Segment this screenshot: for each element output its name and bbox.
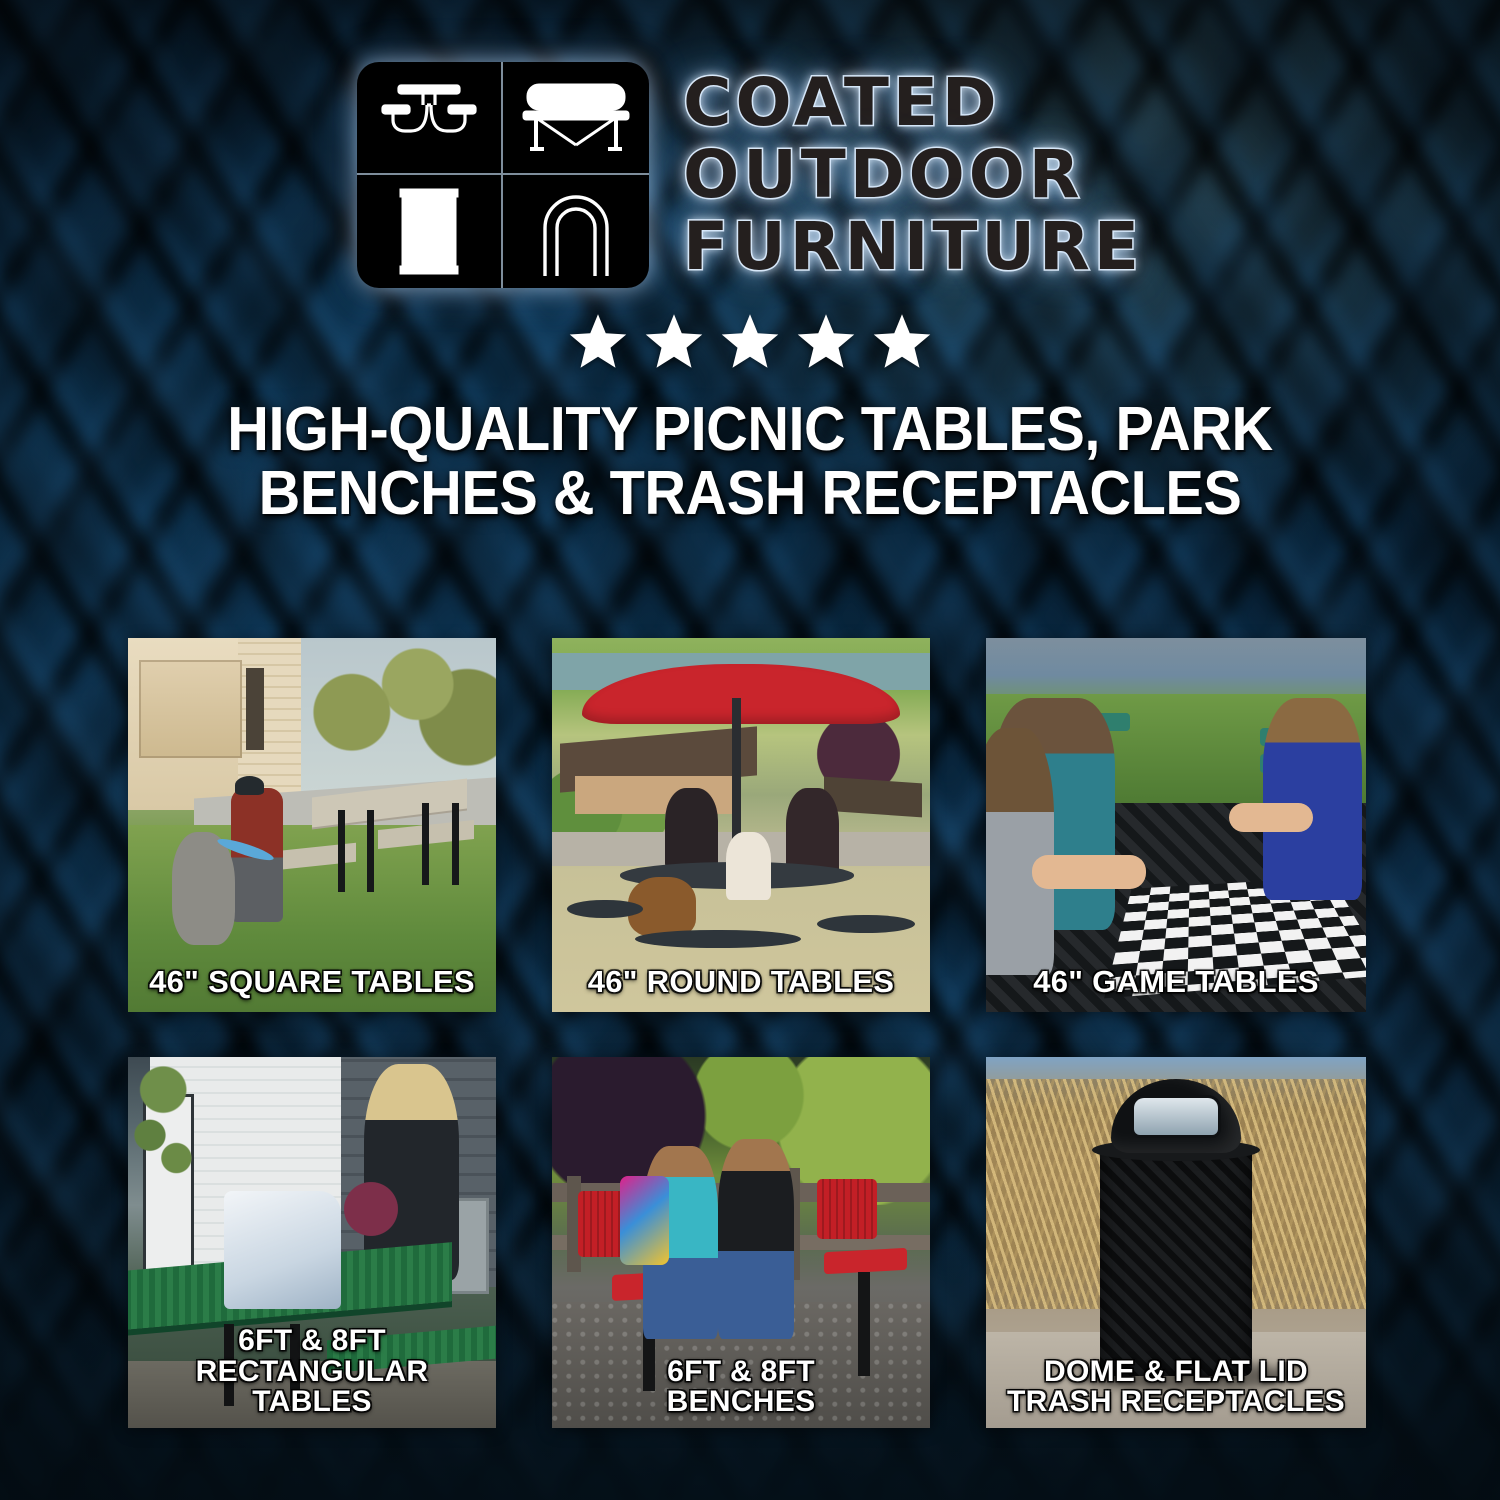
star-icon — [643, 312, 705, 372]
wordmark-line-3: FURNITURE — [683, 212, 1143, 282]
caption-line-1: 46" GAME TABLES — [994, 966, 1358, 998]
product-tile-benches[interactable]: 6FT & 8FT BENCHES — [552, 1057, 930, 1428]
bike-rack-arch-icon — [503, 175, 649, 288]
caption-line-2: RECTANGULAR TABLES — [136, 1357, 488, 1418]
product-caption: DOME & FLAT LID TRASH RECEPTACLES — [986, 1357, 1366, 1418]
product-caption: 46" SQUARE TABLES — [128, 966, 496, 998]
caption-line-1: 6FT & 8FT — [560, 1357, 922, 1388]
caption-line-1: 6FT & 8FT — [136, 1326, 488, 1357]
star-icon — [567, 312, 629, 372]
star-icon — [871, 312, 933, 372]
star-icon — [795, 312, 857, 372]
product-tile-round-tables[interactable]: 46" ROUND TABLES — [552, 638, 930, 1012]
product-tile-trash-receptacles[interactable]: DOME & FLAT LID TRASH RECEPTACLES — [986, 1057, 1366, 1428]
product-caption: 46" ROUND TABLES — [552, 966, 930, 998]
headline-line-1: HIGH-QUALITY PICNIC TABLES, PARK — [118, 398, 1383, 462]
park-bench-icon — [503, 62, 649, 175]
wordmark-line-2: OUTDOOR — [683, 140, 1143, 210]
wordmark-line-1: COATED — [683, 68, 1143, 138]
logo-mark — [357, 62, 649, 288]
product-caption: 6FT & 8FT RECTANGULAR TABLES — [128, 1326, 496, 1418]
picnic-table-icon — [357, 62, 503, 175]
brand-wordmark: COATED OUTDOOR FURNITURE — [683, 68, 1143, 282]
brand-logo: COATED OUTDOOR FURNITURE — [0, 0, 1500, 288]
caption-line-1: 46" SQUARE TABLES — [136, 966, 488, 998]
product-tile-game-tables[interactable]: 46" GAME TABLES — [986, 638, 1366, 1012]
caption-line-1: 46" ROUND TABLES — [560, 966, 922, 998]
product-tile-square-tables[interactable]: 46" SQUARE TABLES — [128, 638, 496, 1012]
product-caption: 46" GAME TABLES — [986, 966, 1366, 998]
caption-line-2: BENCHES — [560, 1387, 922, 1418]
star-icon — [719, 312, 781, 372]
caption-line-1: DOME & FLAT LID — [994, 1357, 1358, 1388]
caption-line-2: TRASH RECEPTACLES — [994, 1387, 1358, 1418]
star-rating — [0, 312, 1500, 372]
product-grid: 46" SQUARE TABLES 46" ROUND TABLES — [128, 638, 1376, 1428]
product-caption: 6FT & 8FT BENCHES — [552, 1357, 930, 1418]
product-photo — [552, 638, 930, 1012]
headline-line-2: BENCHES & TRASH RECEPTACLES — [118, 462, 1383, 526]
product-photo — [128, 638, 496, 1012]
promo-banner: COATED OUTDOOR FURNITURE HIGH-QUALITY PI… — [0, 0, 1500, 1500]
page-title: HIGH-QUALITY PICNIC TABLES, PARK BENCHES… — [53, 398, 1448, 527]
product-photo — [986, 638, 1366, 1012]
trash-receptacle-icon — [357, 175, 503, 288]
product-tile-rectangular-tables[interactable]: 6FT & 8FT RECTANGULAR TABLES — [128, 1057, 496, 1428]
